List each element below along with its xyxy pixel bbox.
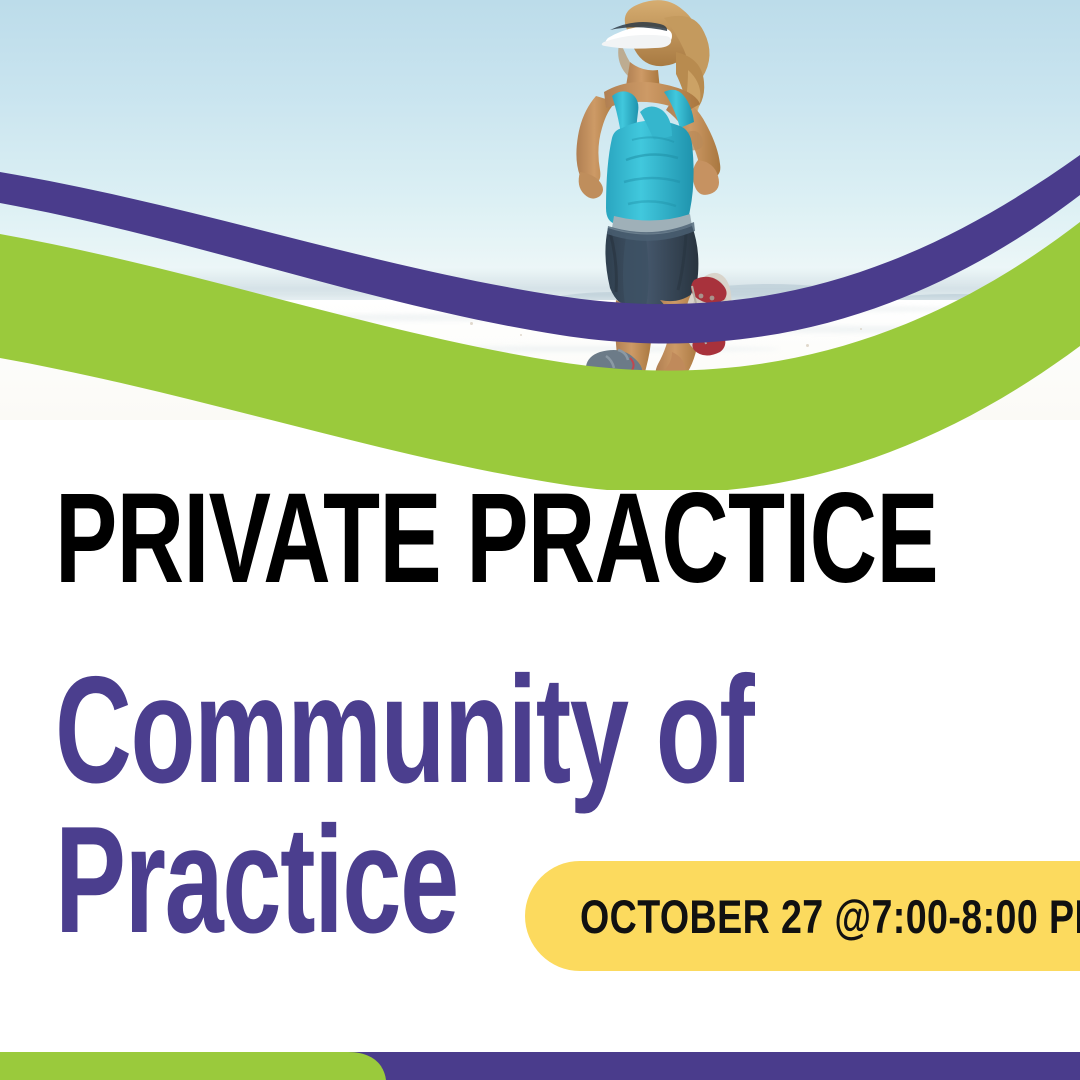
- bottom-bar-green: [0, 1052, 386, 1080]
- runner-visor: [602, 22, 672, 49]
- runner-tank-top: [606, 90, 694, 234]
- hero-photo: [0, 0, 1080, 420]
- bottom-bar-shapes: [0, 1040, 1080, 1080]
- poster-canvas: PRIVATE PRACTICE Community of Practice O…: [0, 0, 1080, 1080]
- event-date-text: OCTOBER 27 @7:00-8:00 PM: [580, 889, 1080, 944]
- runner-figure: [0, 0, 1080, 420]
- event-date-badge: OCTOBER 27 @7:00-8:00 PM: [525, 861, 1080, 971]
- subtitle-line-1: Community of: [55, 645, 753, 815]
- page-title: PRIVATE PRACTICE: [55, 480, 756, 598]
